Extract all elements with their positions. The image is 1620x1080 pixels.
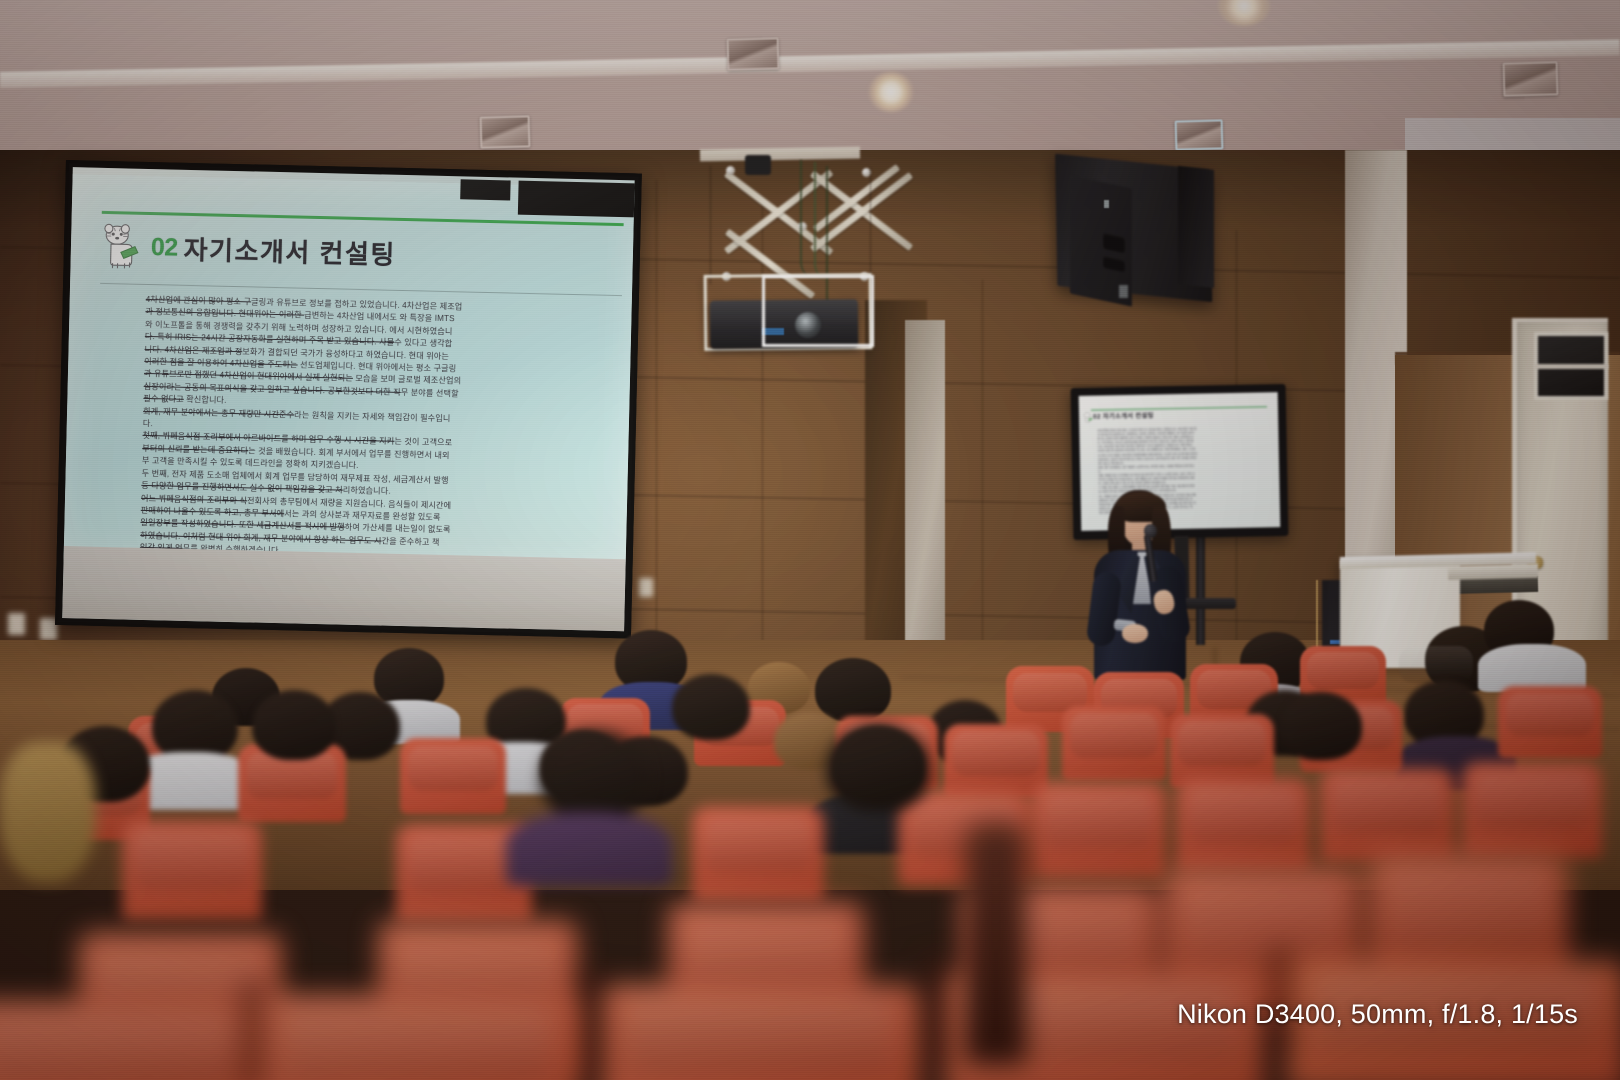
presentation-slide: 02 자기소개서 컨설팅 4차산업에 관심이 많아 평소 구글링과 유튜브로 정… — [89, 197, 620, 492]
auditorium-seat — [400, 738, 506, 814]
auditorium-seat — [1320, 768, 1454, 862]
auditorium-seat — [692, 806, 824, 902]
auditorium-seat — [258, 994, 578, 1080]
presenter-hand — [1122, 624, 1148, 643]
door-window-mullion — [1534, 364, 1608, 369]
slide-title-bar: 02 자기소개서 컨설팅 — [100, 217, 631, 287]
auditorium-seat — [1032, 782, 1166, 878]
wall-outlet[interactable] — [639, 578, 653, 597]
seat-gap-shadow — [926, 958, 952, 1068]
audience-head — [1280, 692, 1362, 760]
projection-screen-surface: 02 자기소개서 컨설팅 4차산업에 관심이 많아 평소 구글링과 유튜브로 정… — [62, 167, 634, 631]
presenter-speaker — [1078, 480, 1198, 680]
tiger-mascot-icon — [1083, 410, 1093, 421]
projector-safety-cage — [762, 275, 874, 347]
auditorium-seat — [1176, 778, 1310, 872]
slide-body-text: 4차산업에 관심이 많아 평소 구글링과 유튜브로 정보를 접하고 있었습니다.… — [141, 294, 607, 492]
ceiling-downlight — [868, 72, 914, 112]
audience-head — [0, 742, 96, 882]
speaker-led-indicator — [1104, 200, 1109, 208]
alcove-side-wall — [905, 320, 945, 665]
speaker-mount-bracket — [1178, 166, 1214, 288]
slide-number: 02 — [151, 233, 178, 263]
ceiling-mount-bracket — [745, 155, 771, 175]
auditorium-seat — [944, 724, 1048, 798]
auditorium-seat — [1498, 686, 1602, 758]
audience-head — [252, 690, 336, 760]
audience-shoulders — [506, 812, 672, 886]
slide-title: 자기소개서 컨설팅 — [183, 229, 396, 271]
auditorium-seat — [0, 1000, 260, 1080]
lectern-side-shelf — [1448, 564, 1538, 580]
microphone-icon — [1144, 524, 1157, 538]
wall-outlet[interactable] — [8, 613, 25, 635]
audience-shoulders — [1478, 644, 1586, 692]
scissor-lift-joint — [726, 166, 735, 175]
speaker-label — [1119, 285, 1128, 298]
auditorium-seat — [1062, 706, 1166, 780]
auditorium-seat — [600, 984, 920, 1080]
podium-computer-led — [1330, 640, 1340, 644]
projector-safety-wire — [870, 168, 871, 280]
audience-head — [672, 674, 750, 740]
projector-safety-wire — [710, 166, 711, 284]
screen-dark-corner — [460, 179, 510, 200]
tiger-mascot-icon — [100, 222, 145, 271]
auditorium-seat — [1170, 714, 1274, 788]
camera-exif-caption: Nikon D3400, 50mm, f/1.8, 1/15s — [1177, 999, 1578, 1030]
ceiling-air-vent — [480, 115, 531, 148]
screen-dark-corner — [518, 181, 635, 218]
audience-head — [815, 658, 891, 722]
audience-head — [826, 724, 930, 812]
lecture-hall-photo: 02 자기소개서 컨설팅 4차산업에 관심이 많아 평소 구글링과 유튜브로 정… — [0, 0, 1620, 1080]
seat-gap-shadow — [580, 970, 606, 1080]
ceiling-air-vent — [1175, 119, 1224, 150]
monitor-slide-title: 02 자기소개서 컨설팅 — [1093, 410, 1154, 420]
projection-screen: 02 자기소개서 컨설팅 4차산업에 관심이 많아 평소 구글링과 유튜브로 정… — [55, 160, 642, 638]
auditorium-seat — [966, 824, 1026, 1064]
audience-head — [540, 730, 648, 822]
ceiling-air-vent — [1503, 61, 1559, 96]
seat-gap-shadow — [240, 980, 266, 1080]
screen-blank-strip — [62, 546, 626, 631]
auditorium-seat — [1462, 762, 1602, 858]
auditorium-seat — [122, 820, 262, 920]
projected-image-area: 02 자기소개서 컨설팅 4차산업에 관심이 많아 평소 구글링과 유튜브로 정… — [64, 174, 635, 572]
ceiling-air-vent — [727, 37, 780, 70]
